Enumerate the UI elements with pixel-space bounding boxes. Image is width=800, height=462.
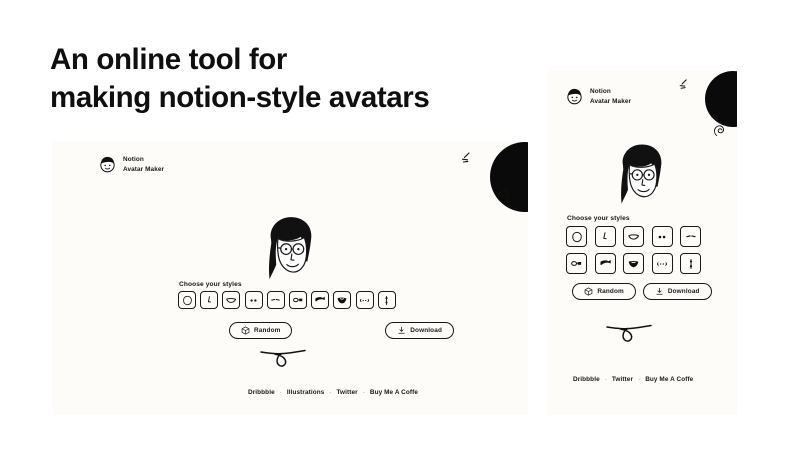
headline-line-2: making notion-style avatars xyxy=(50,81,429,114)
footer-separator: · xyxy=(363,389,365,396)
dice-box-icon xyxy=(584,287,593,296)
random-button-label: Random xyxy=(597,288,623,295)
style-option-beard-icon[interactable] xyxy=(333,291,351,309)
styles-section-label: Choose your styles xyxy=(567,215,630,222)
style-option-ears-icon[interactable] xyxy=(356,291,374,309)
app-logo[interactable]: Notion Avatar Maker xyxy=(565,87,631,106)
loop-squiggle-icon xyxy=(259,345,307,376)
style-icon-row xyxy=(178,291,396,309)
random-button[interactable]: Random xyxy=(572,283,635,300)
app-logo[interactable]: Notion Avatar Maker xyxy=(98,155,164,174)
style-option-eyes-icon[interactable] xyxy=(245,291,263,309)
notion-face-icon xyxy=(98,155,117,174)
style-option-nose-icon[interactable] xyxy=(200,291,218,309)
page-headline: An online tool for making notion-style a… xyxy=(50,41,429,117)
style-option-face-shape-icon[interactable] xyxy=(566,226,587,247)
footer-link-dribbble[interactable]: Dribbble xyxy=(248,389,275,396)
screenshot-root: An online tool for making notion-style a… xyxy=(0,0,800,462)
footer-separator: · xyxy=(329,389,331,396)
style-option-nose-icon[interactable] xyxy=(595,226,616,247)
sparkle-marks-icon xyxy=(458,151,472,170)
footer-link-buy-me-a-coffe[interactable]: Buy Me A Coffe xyxy=(645,376,693,383)
style-option-glasses-icon[interactable] xyxy=(289,291,307,309)
footer-links: Dribbble · Twitter · Buy Me A Coffe xyxy=(573,376,693,383)
action-button-row: Random Download xyxy=(556,283,728,300)
download-button[interactable]: Download xyxy=(643,283,712,300)
loop-squiggle-icon xyxy=(605,320,653,351)
desktop-preview-card: Notion Avatar Maker Choose your styles xyxy=(52,141,528,415)
style-option-accessory-icon[interactable] xyxy=(378,291,396,309)
footer-separator: · xyxy=(280,389,282,396)
black-half-circle-decoration xyxy=(705,71,737,127)
footer-link-illustrations[interactable]: Illustrations xyxy=(287,389,325,396)
logo-name-line-1: Notion xyxy=(590,87,631,97)
style-option-face-shape-icon[interactable] xyxy=(178,291,196,309)
footer-link-twitter[interactable]: Twitter xyxy=(612,376,633,383)
logo-name-line-2: Avatar Maker xyxy=(123,165,164,175)
mobile-preview-card: Notion Avatar Maker Choose your styles xyxy=(547,70,737,415)
spiral-swirl-icon xyxy=(713,124,727,143)
random-button[interactable]: Random xyxy=(229,322,292,339)
style-option-accessory-icon[interactable] xyxy=(680,253,701,274)
footer-link-twitter[interactable]: Twitter xyxy=(337,389,358,396)
style-option-glasses-icon[interactable] xyxy=(566,253,587,274)
style-option-mouth-icon[interactable] xyxy=(623,226,644,247)
download-button-label: Download xyxy=(410,327,442,334)
footer-separator: · xyxy=(638,376,640,383)
spiral-swirl-icon xyxy=(497,189,512,209)
logo-name-line-2: Avatar Maker xyxy=(590,97,631,107)
sparkle-marks-icon xyxy=(676,78,689,96)
style-option-eyebrows-icon[interactable] xyxy=(680,226,701,247)
download-arrow-icon xyxy=(655,287,664,296)
style-option-mouth-icon[interactable] xyxy=(222,291,240,309)
footer-links: Dribbble · Illustrations · Twitter · Buy… xyxy=(248,389,418,396)
dice-box-icon xyxy=(241,326,250,335)
footer-link-buy-me-a-coffe[interactable]: Buy Me A Coffe xyxy=(370,389,418,396)
style-option-hair-icon[interactable] xyxy=(595,253,616,274)
headline-line-1: An online tool for xyxy=(50,43,287,76)
notion-face-icon xyxy=(565,87,584,106)
footer-separator: · xyxy=(605,376,607,383)
style-option-eyebrows-icon[interactable] xyxy=(267,291,285,309)
random-button-label: Random xyxy=(254,327,280,334)
style-option-eyes-icon[interactable] xyxy=(652,226,673,247)
logo-name-line-1: Notion xyxy=(123,155,164,165)
footer-link-dribbble[interactable]: Dribbble xyxy=(573,376,600,383)
style-option-ears-icon[interactable] xyxy=(652,253,673,274)
avatar-preview xyxy=(250,204,332,286)
action-button-row: Random Download xyxy=(229,322,454,339)
avatar-preview xyxy=(603,132,681,210)
style-icon-grid xyxy=(566,226,724,274)
download-button-label: Download xyxy=(668,288,700,295)
style-option-hair-icon[interactable] xyxy=(311,291,329,309)
download-button[interactable]: Download xyxy=(385,322,454,339)
styles-section-label: Choose your styles xyxy=(179,281,242,288)
download-arrow-icon xyxy=(397,326,406,335)
style-option-beard-icon[interactable] xyxy=(623,253,644,274)
